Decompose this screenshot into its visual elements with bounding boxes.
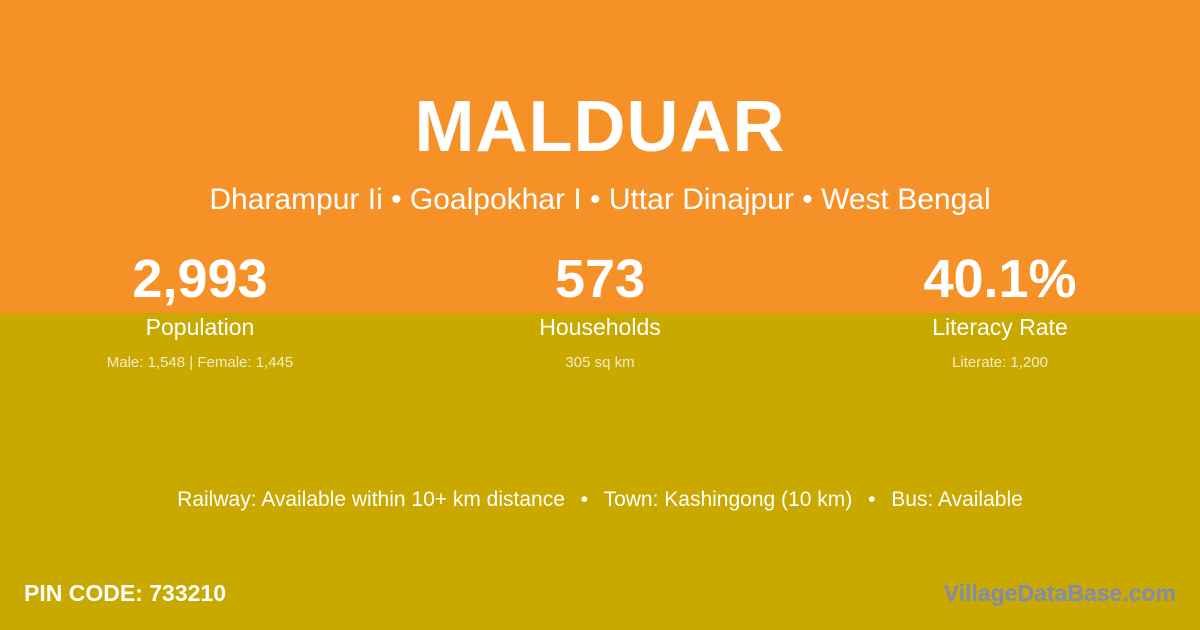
stat-value: 573	[400, 248, 800, 310]
facility-railway: Railway: Available within 10+ km distanc…	[177, 488, 565, 511]
stats-row: 2,993 Population Male: 1,548 | Female: 1…	[0, 248, 1200, 374]
stat-literacy-rate: 40.1% Literacy Rate Literate: 1,200	[800, 248, 1200, 374]
stat-label: Households	[400, 312, 800, 342]
page-title: MALDUAR	[0, 84, 1200, 170]
village-info-card: MALDUAR Dharampur Ii • Goalpokhar I • Ut…	[0, 0, 1200, 630]
location-breadcrumb: Dharampur Ii • Goalpokhar I • Uttar Dina…	[0, 181, 1200, 219]
stat-sublabel: 305 sq km	[400, 352, 800, 374]
pin-code: PIN CODE: 733210	[24, 578, 226, 608]
stat-population: 2,993 Population Male: 1,548 | Female: 1…	[0, 248, 400, 374]
stat-sublabel: Male: 1,548 | Female: 1,445	[0, 352, 400, 374]
stat-sublabel: Literate: 1,200	[800, 352, 1200, 374]
stat-households: 573 Households 305 sq km	[400, 248, 800, 374]
facility-bus: Bus: Available	[891, 488, 1023, 511]
brand-watermark: VillageDataBase.com	[944, 578, 1176, 608]
stat-value: 40.1%	[800, 248, 1200, 310]
facilities-line: Railway: Available within 10+ km distanc…	[0, 485, 1200, 515]
facility-town: Town: Kashingong (10 km)	[604, 488, 853, 511]
stat-label: Literacy Rate	[800, 312, 1200, 342]
stat-value: 2,993	[0, 248, 400, 310]
facility-separator: •	[858, 488, 885, 511]
stat-label: Population	[0, 312, 400, 342]
facility-separator: •	[571, 488, 598, 511]
